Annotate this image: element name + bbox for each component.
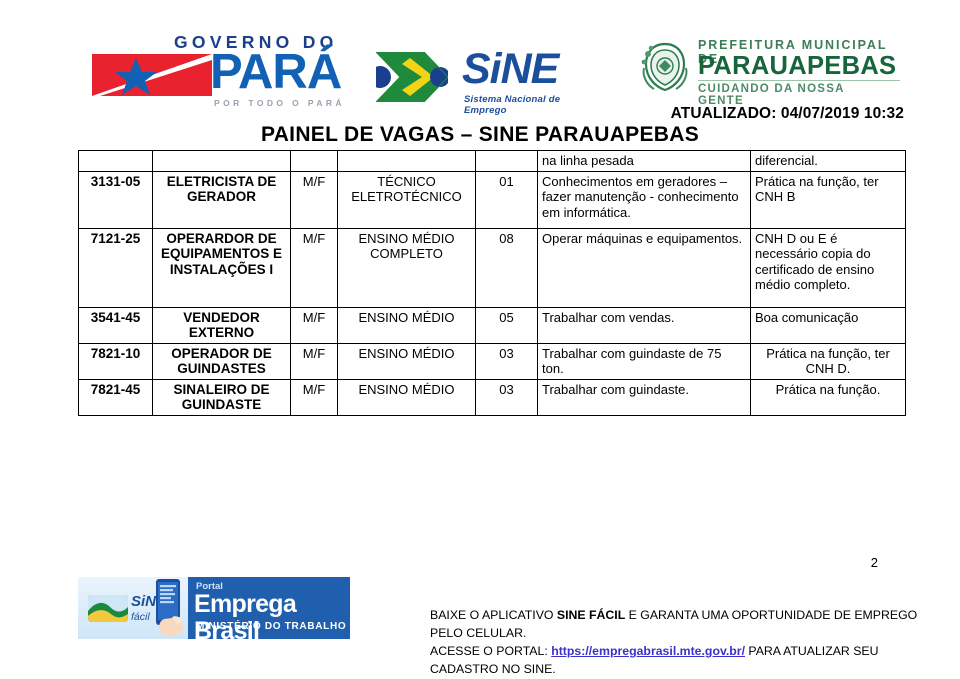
cell-quantity: 03	[476, 379, 538, 415]
footer-text-block: BAIXE O APLICATIVO SINE FÁCIL E GARANTA …	[430, 606, 950, 678]
footer-line-1: BAIXE O APLICATIVO SINE FÁCIL E GARANTA …	[430, 606, 950, 642]
coat-of-arms-icon	[638, 40, 692, 94]
footer-line-2: ACESSE O PORTAL: https://empregabrasil.m…	[430, 642, 950, 678]
brazil-flag-icon	[376, 52, 448, 102]
cell-code: 7121-25	[79, 228, 153, 307]
document-footer: SiNE fácil	[0, 573, 960, 648]
table-row: 7821-45 SINALEIRO DE GUINDASTE M/F ENSIN…	[79, 379, 906, 415]
footer-line1-part-a: BAIXE O APLICATIVO	[430, 608, 557, 622]
updated-timestamp: ATUALIZADO: 04/07/2019 10:32	[671, 105, 904, 123]
cell-education: ENSINO MÉDIO	[338, 379, 476, 415]
cell-sex: M/F	[291, 379, 338, 415]
cell-role: OPERARDOR DE EQUIPAMENTOS E INSTALAÇÕES …	[153, 228, 291, 307]
para-tagline: POR TODO O PARÁ	[214, 98, 345, 108]
cell-code: 7821-45	[79, 379, 153, 415]
portal-link[interactable]: https://empregabrasil.mte.gov.br/	[551, 644, 745, 658]
page-title: PAINEL DE VAGAS – SINE PARAUAPEBAS	[0, 123, 960, 147]
phone-illustration-icon	[154, 579, 188, 637]
cell-education: TÉCNICO ELETROTÉCNICO	[338, 171, 476, 228]
cell-requirements: Boa comunicação	[751, 307, 906, 343]
cell-sex	[291, 151, 338, 172]
page-number: 2	[871, 555, 878, 570]
cell-description: Operar máquinas e equipamentos.	[538, 228, 751, 307]
cell-description: Trabalhar com guindaste de 75 ton.	[538, 343, 751, 379]
cell-code: 7821-10	[79, 343, 153, 379]
ministry-label: MINISTÉRIO DO TRABALHO	[196, 621, 346, 632]
vacancies-table-wrapper: na linha pesada diferencial. 3131-05 ELE…	[78, 150, 905, 416]
emprega-logo-right-panel: Portal Emprega Brasil MINISTÉRIO DO TRAB…	[188, 577, 350, 639]
sine-facil-icon	[88, 595, 128, 622]
footer-app-name: SINE FÁCIL	[557, 608, 625, 622]
cell-education: ENSINO MÉDIO	[338, 343, 476, 379]
header-logo-band: GOVERNO DO PARÁ POR TODO O PARÁ	[0, 18, 960, 106]
vacancies-table: na linha pesada diferencial. 3131-05 ELE…	[78, 150, 906, 416]
cell-sex: M/F	[291, 307, 338, 343]
cell-requirements: diferencial.	[751, 151, 906, 172]
cell-sex: M/F	[291, 228, 338, 307]
cell-role: SINALEIRO DE GUINDASTE	[153, 379, 291, 415]
prefeitura-tagline: CUIDANDO DA NOSSA GENTE	[698, 83, 888, 107]
cell-code	[79, 151, 153, 172]
para-wordmark: PARÁ	[210, 48, 341, 97]
cell-quantity: 01	[476, 171, 538, 228]
cell-requirements: Prática na função, ter CNH B	[751, 171, 906, 228]
cell-role: OPERADOR DE GUINDASTES	[153, 343, 291, 379]
cell-role	[153, 151, 291, 172]
document-page: GOVERNO DO PARÁ POR TODO O PARÁ	[0, 0, 960, 679]
cell-requirements: Prática na função, ter CNH D.	[751, 343, 906, 379]
cell-requirements: Prática na função.	[751, 379, 906, 415]
sine-wordmark: SiNE	[462, 48, 558, 91]
para-flag-icon	[92, 54, 212, 96]
cell-description: na linha pesada	[538, 151, 751, 172]
prefeitura-wordmark: PARAUAPEBAS	[698, 52, 896, 80]
cell-quantity	[476, 151, 538, 172]
table-row: 7121-25 OPERARDOR DE EQUIPAMENTOS E INST…	[79, 228, 906, 307]
cell-code: 3131-05	[79, 171, 153, 228]
cell-education: ENSINO MÉDIO COMPLETO	[338, 228, 476, 307]
prefeitura-parauapebas-logo: PREFEITURA MUNICIPAL DE PARAUAPEBAS CUID…	[638, 34, 888, 104]
governo-do-para-logo: GOVERNO DO PARÁ POR TODO O PARÁ	[92, 32, 362, 108]
emprega-brasil-logo: SiNE fácil	[78, 577, 350, 639]
prefeitura-divider	[698, 80, 900, 81]
cell-code: 3541-45	[79, 307, 153, 343]
emprega-logo-left-panel: SiNE fácil	[78, 577, 188, 639]
emprega-brasil-wordmark: Emprega Brasil	[194, 591, 350, 645]
table-row: 7821-10 OPERADOR DE GUINDASTES M/F ENSIN…	[79, 343, 906, 379]
cell-sex: M/F	[291, 171, 338, 228]
cell-description: Trabalhar com guindaste.	[538, 379, 751, 415]
cell-sex: M/F	[291, 343, 338, 379]
sine-subtitle: Sistema Nacional de Emprego	[464, 94, 596, 116]
cell-description: Conhecimentos em geradores – fazer manut…	[538, 171, 751, 228]
table-row-carryover: na linha pesada diferencial.	[79, 151, 906, 172]
cell-description: Trabalhar com vendas.	[538, 307, 751, 343]
footer-line2-part-a: ACESSE O PORTAL:	[430, 644, 551, 658]
table-row: 3541-45 VENDEDOR EXTERNO M/F ENSINO MÉDI…	[79, 307, 906, 343]
table-row: 3131-05 ELETRICISTA DE GERADOR M/F TÉCNI…	[79, 171, 906, 228]
cell-requirements: CNH D ou E é necessário copia do certifi…	[751, 228, 906, 307]
cell-role: ELETRICISTA DE GERADOR	[153, 171, 291, 228]
cell-quantity: 08	[476, 228, 538, 307]
cell-education	[338, 151, 476, 172]
cell-education: ENSINO MÉDIO	[338, 307, 476, 343]
cell-quantity: 05	[476, 307, 538, 343]
cell-quantity: 03	[476, 343, 538, 379]
cell-role: VENDEDOR EXTERNO	[153, 307, 291, 343]
sine-logo: SiNE Sistema Nacional de Emprego	[376, 32, 596, 108]
